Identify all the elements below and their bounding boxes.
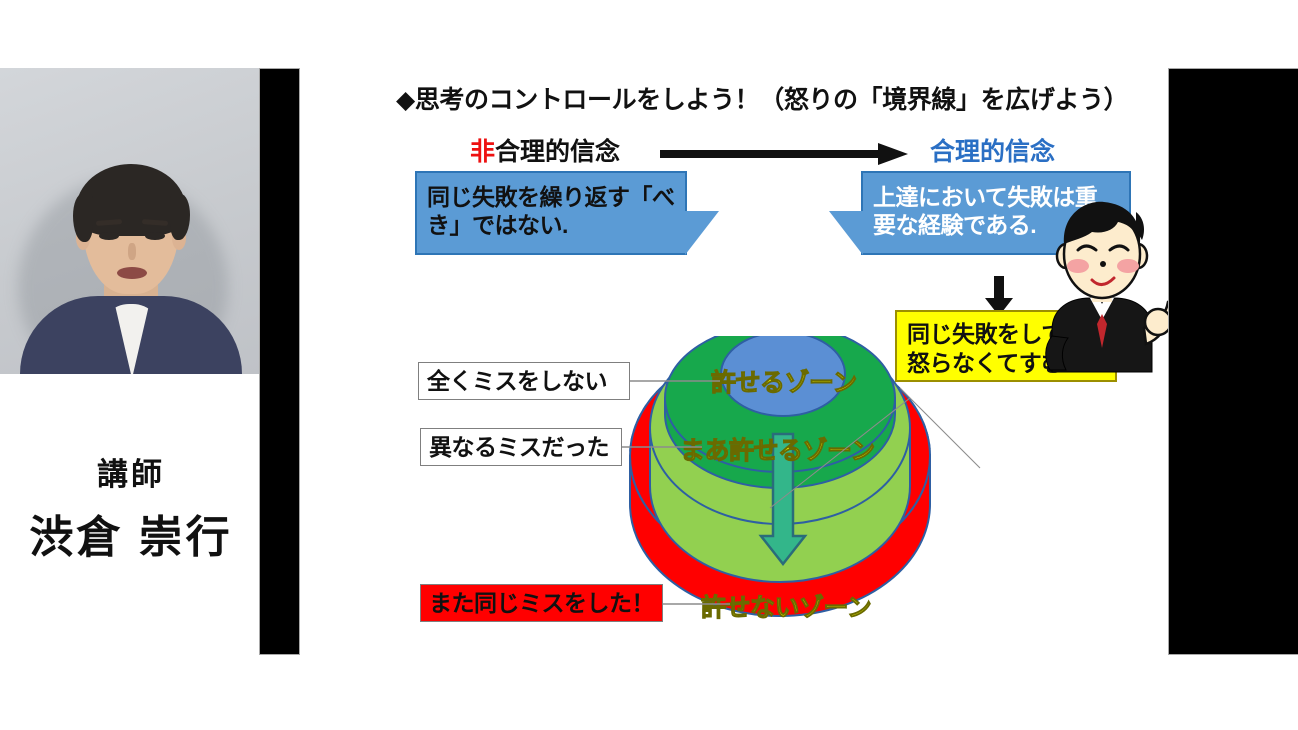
callout-different-mistake: 異なるミスだった bbox=[420, 428, 622, 466]
zone-label-forgivable: 許せるゾーン bbox=[711, 363, 857, 399]
axis-label-irrational: 非合理的信念 bbox=[470, 132, 620, 168]
callout-no-mistake: 全くミスをしない bbox=[418, 362, 630, 400]
axis-label-irrational-prefix: 非 bbox=[470, 138, 495, 166]
portrait-nose bbox=[128, 243, 136, 260]
speech-bubble-rational-tail bbox=[829, 211, 863, 255]
presenter-video-frame[interactable] bbox=[0, 68, 262, 374]
speech-bubble-irrational-tail bbox=[685, 211, 719, 255]
speech-bubble-irrational-line2: き」ではない. bbox=[427, 211, 676, 239]
axis-label-rational: 合理的信念 bbox=[930, 132, 1055, 168]
zone-label-unforgivable: 許せないゾーン bbox=[701, 588, 871, 624]
presenter-name: 渋倉 崇行 bbox=[0, 514, 262, 562]
letterbox-bar-left bbox=[259, 68, 300, 655]
portrait-mouth bbox=[117, 267, 147, 279]
speech-bubble-irrational: 同じ失敗を繰り返す「べ き」ではない. bbox=[415, 171, 687, 255]
slide-title: ◆思考のコントロールをしよう！（怒りの「境界線」を広げよう） bbox=[396, 80, 1128, 116]
callout-same-mistake-alert: また同じミスをした！ bbox=[420, 584, 663, 622]
presenter-caption: 講師 渋倉 崇行 bbox=[0, 458, 262, 562]
portrait-eye-right bbox=[145, 232, 165, 240]
pointing-businessman-illustration bbox=[1018, 196, 1168, 386]
portrait-hair-side-left bbox=[73, 194, 93, 242]
slide-canvas: ◆思考のコントロールをしよう！（怒りの「境界線」を広げよう） 非合理的信念 合理… bbox=[300, 68, 1168, 655]
right-arrow-icon bbox=[660, 142, 908, 166]
zone-label-somewhat-forgivable: まあ許せるゾーン bbox=[680, 431, 875, 467]
portrait-eye-left bbox=[99, 232, 119, 240]
presentation-stage: 講師 渋倉 崇行 ◆思考のコントロールをしよう！（怒りの「境界線」を広げよう） … bbox=[0, 0, 1298, 730]
presenter-role-label: 講師 bbox=[0, 458, 262, 492]
axis-label-irrational-rest: 合理的信念 bbox=[495, 138, 620, 166]
letterbox-bar-right bbox=[1168, 68, 1298, 655]
presenter-panel: 講師 渋倉 崇行 bbox=[0, 68, 262, 628]
speech-bubble-irrational-line1: 同じ失敗を繰り返す「べ bbox=[427, 183, 676, 211]
